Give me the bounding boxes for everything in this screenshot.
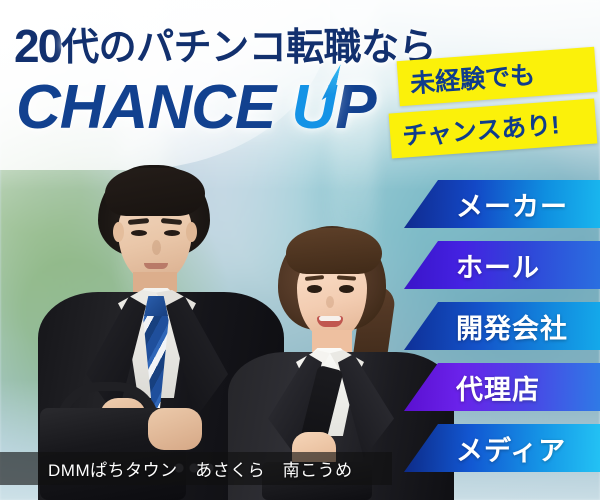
caption-bar: DMMぱちタウン あさくら 南こうめ: [0, 452, 392, 485]
brand-logotype: CHANCE UP: [16, 72, 376, 143]
category-label: メディア: [456, 429, 566, 468]
category-button-development-company[interactable]: 開発会社: [404, 302, 600, 350]
headline-number: 20: [14, 20, 61, 72]
woman-eye-left: [307, 285, 322, 293]
woman-nose: [326, 296, 334, 308]
logo-letter-u: U: [291, 73, 335, 142]
category-button-hall[interactable]: ホール: [404, 241, 600, 289]
category-button-maker[interactable]: メーカー: [404, 180, 600, 228]
man-ear-right: [186, 222, 197, 242]
man-mouth: [144, 263, 168, 269]
logo-letter-p: P: [335, 73, 375, 142]
caption-text: DMMぱちタウン あさくら 南こうめ: [48, 456, 353, 481]
woman-fringe: [286, 228, 382, 274]
logo-text-chance: CHANCE: [16, 73, 291, 142]
category-label: ホール: [456, 246, 540, 285]
man-eye-left: [131, 230, 147, 236]
man-hand-right: [148, 408, 202, 450]
headline-text: 代のパチンコ転職なら: [61, 27, 436, 69]
category-label: 代理店: [456, 368, 540, 407]
headline: 20代のパチンコ転職なら: [14, 16, 436, 73]
promo-badge: 未経験でも チャンスあり!: [396, 54, 596, 151]
category-label: 開発会社: [456, 307, 568, 346]
man-nose: [152, 240, 161, 255]
category-label: メーカー: [456, 185, 568, 224]
category-button-media[interactable]: メディア: [404, 424, 600, 472]
man-fringe: [105, 168, 205, 216]
category-button-agency[interactable]: 代理店: [404, 363, 600, 411]
man-ear-left: [113, 222, 124, 242]
woman-teeth: [319, 316, 341, 321]
man-eye-right: [164, 230, 180, 236]
logo-letter-u-accent: U: [291, 72, 335, 143]
category-button-list: メーカー ホール 開発会社 代理店 メディア: [404, 180, 600, 485]
promo-badge-line-2: チャンスあり!: [389, 99, 598, 159]
advertisement-banner[interactable]: 20代のパチンコ転職なら CHANCE UP 未経験でも チャンスあり! メーカ…: [0, 0, 600, 500]
woman-eye-right: [339, 285, 354, 293]
promo-badge-line-1: 未経験でも: [397, 47, 598, 106]
